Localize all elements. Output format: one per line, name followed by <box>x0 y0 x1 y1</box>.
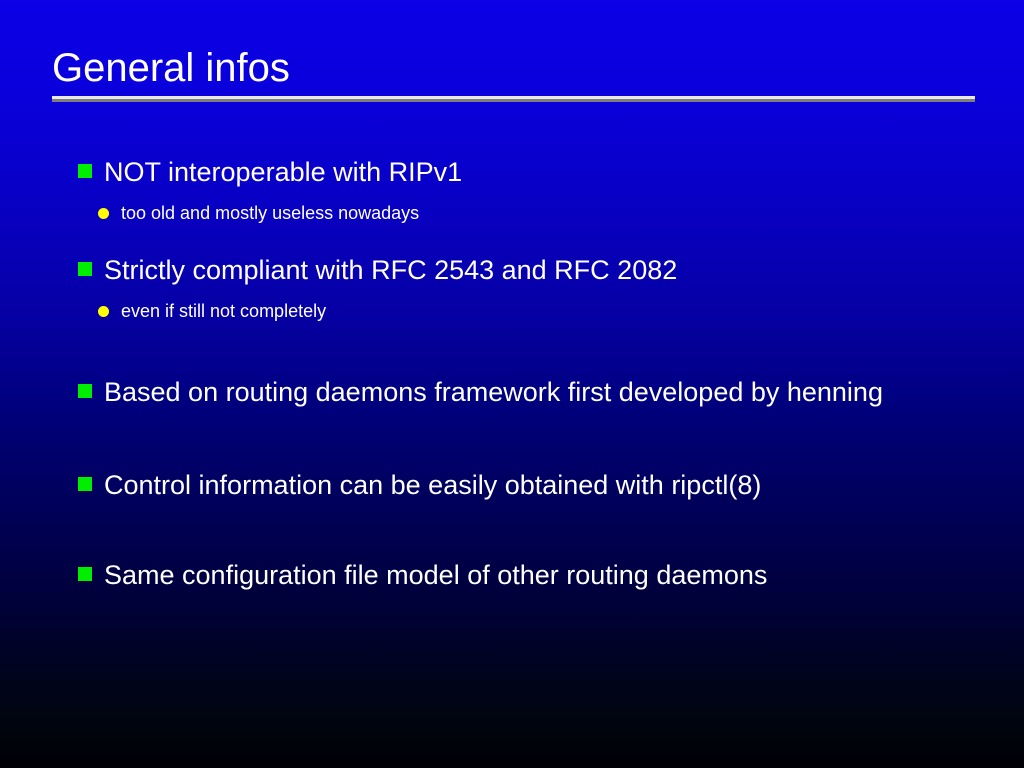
bullet-group: Same configuration file model of other r… <box>76 551 976 599</box>
title-divider <box>52 96 975 102</box>
bullet-item-level1: Same configuration file model of other r… <box>76 551 976 599</box>
bullet-text: Strictly compliant with RFC 2543 and RFC… <box>104 255 677 285</box>
bullet-item-level1: Control information can be easily obtain… <box>76 461 976 509</box>
bullet-text: even if still not completely <box>121 301 326 321</box>
bullet-item-level2: even if still not completely <box>76 296 976 326</box>
green-square-bullet-icon <box>78 477 92 491</box>
slide-body: NOT interoperable with RIPv1 too old and… <box>76 148 976 617</box>
bullet-item-level1: Strictly compliant with RFC 2543 and RFC… <box>76 246 976 294</box>
bullet-text: too old and mostly useless nowadays <box>121 203 419 223</box>
bullet-group: NOT interoperable with RIPv1 too old and… <box>76 148 976 228</box>
bullet-text: NOT interoperable with RIPv1 <box>104 157 462 187</box>
green-square-bullet-icon <box>78 262 92 276</box>
yellow-dot-bullet-icon <box>98 306 109 317</box>
yellow-dot-bullet-icon <box>98 208 109 219</box>
bullet-text: Based on routing daemons framework first… <box>104 377 883 407</box>
bullet-item-level1: Based on routing daemons framework first… <box>76 368 964 417</box>
bullet-text: Same configuration file model of other r… <box>104 560 767 590</box>
green-square-bullet-icon <box>78 164 92 178</box>
bullet-item-level2: too old and mostly useless nowadays <box>76 198 976 228</box>
page-title: General infos <box>52 44 976 92</box>
bullet-text: Control information can be easily obtain… <box>104 470 761 500</box>
bullet-group: Control information can be easily obtain… <box>76 461 976 509</box>
bullet-group: Based on routing daemons framework first… <box>76 368 976 417</box>
title-block: General infos <box>52 44 976 102</box>
green-square-bullet-icon <box>78 567 92 581</box>
green-square-bullet-icon <box>78 384 92 398</box>
presentation-slide: General infos NOT interoperable with RIP… <box>0 0 1024 768</box>
bullet-group: Strictly compliant with RFC 2543 and RFC… <box>76 246 976 326</box>
bullet-item-level1: NOT interoperable with RIPv1 <box>76 148 976 196</box>
